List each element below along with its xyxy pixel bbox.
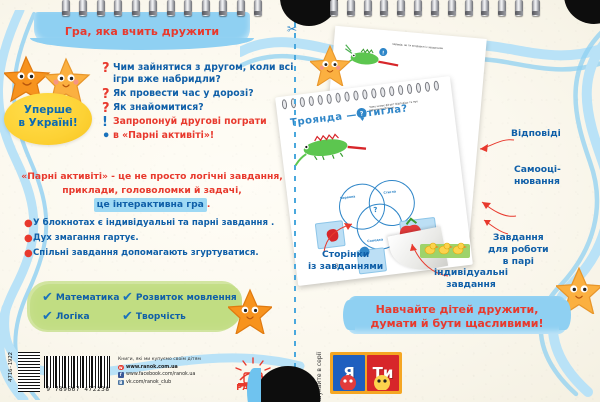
question-mark-icon: ? <box>102 62 113 75</box>
series-book-ty[interactable]: Ти <box>367 355 399 391</box>
skill-label: Логіка <box>56 312 90 322</box>
question-item: ? Як знайомитися? <box>102 102 302 115</box>
annotation-pair-tasks: Завдання для роботи в парі <box>488 232 549 268</box>
bullet-item: ● У блокнотах є індивідуальні та парні з… <box>24 218 294 229</box>
cta-line1: Навчайте дітей дружити, <box>376 303 539 316</box>
question-text: Запропонуй другові пограти <box>113 116 267 128</box>
isbn-digits: 9 789667 472238 <box>40 386 116 393</box>
question-text: в «Парні активіті»! <box>113 130 214 142</box>
paragraph-tail: . <box>207 199 211 210</box>
bullet-item: ● Дух змагання гартує. <box>24 233 294 244</box>
publisher-info: Книги, які ми купуємо своїм дітям w www.… <box>118 357 201 387</box>
skill-tag-creativity: ✔ Творчість <box>122 310 186 323</box>
venn-center-question-front: ? <box>373 206 378 214</box>
vk-icon: B <box>118 380 124 386</box>
question-mark-icon: ? <box>102 88 113 101</box>
bullet-item: ● Спільні завдання допомагають згуртуват… <box>24 248 294 259</box>
star-character-upper-right <box>310 44 350 86</box>
question-item: ? Як провести час у дорозі? <box>102 88 302 101</box>
skill-label: Розвиток мовлення <box>136 293 237 303</box>
individual-tasks-line2: завдання <box>446 279 496 290</box>
barcode-vertical <box>18 352 40 392</box>
task-pages-line1: Сторінки <box>322 249 369 260</box>
self-assessment-line1: Самооці- <box>514 164 561 175</box>
annotation-self-assessment: Самооці- нювання <box>514 164 561 188</box>
bullet-dot-icon: • <box>102 130 113 143</box>
skill-label: Творчість <box>136 312 186 322</box>
question-text: Як знайомитися? <box>113 102 204 114</box>
pair-tasks-line1: Завдання <box>493 232 544 243</box>
bullet-text: Спільні завдання допомагають згуртуватис… <box>33 248 259 259</box>
question-text: Чим зайнятися з другом, коли всі ігри вж… <box>113 62 302 87</box>
annotation-answers: Відповіді <box>511 128 561 140</box>
skill-tag-logic: ✔ Логіка <box>42 310 90 323</box>
question-list: ? Чим зайнятися з другом, коли всі ігри … <box>102 62 302 144</box>
vk-link[interactable]: vk.com/ranok_club <box>126 380 171 385</box>
skill-label: Математика <box>56 293 119 303</box>
series-books[interactable]: Я Ти <box>330 352 402 394</box>
spiral-binding-right <box>330 0 540 16</box>
check-icon: ✔ <box>42 291 53 304</box>
publisher-tagline: Книги, які ми купуємо своїм дітям <box>118 357 201 362</box>
feature-bullet-list: ● У блокнотах є індивідуальні та парні з… <box>24 218 294 263</box>
skill-tag-speech: ✔ Розвиток мовлення <box>122 291 237 304</box>
paragraph-line-2: приклади, головоломки й задачі, <box>62 185 242 196</box>
cta-text: Навчайте дітей дружити, думати й бути ща… <box>348 303 566 331</box>
bullet-dot-icon: ● <box>24 218 33 229</box>
publisher-vk-row[interactable]: B vk.com/ranok_club <box>118 380 201 386</box>
pair-tasks-line3: в парі <box>503 256 534 267</box>
product-back-cover: ✂ Гра, яка вчить дружити Уперше в У <box>0 0 600 402</box>
annotation-task-pages: Сторінки із завданнями <box>308 249 383 273</box>
isbn-barcode <box>44 356 110 388</box>
series-book-ya[interactable]: Я <box>333 355 365 391</box>
check-icon: ✔ <box>122 291 133 304</box>
paragraph-highlight: це інтерактивна гра <box>94 198 207 212</box>
scissors-icon: ✂ <box>287 22 297 36</box>
publisher-facebook-row[interactable]: f www.facebook.com/ranok.ua <box>118 372 201 378</box>
facebook-icon: f <box>118 372 124 378</box>
star-character-green-box <box>228 288 272 334</box>
hint-bubble-icon: ? <box>355 106 369 121</box>
bullet-dot-icon: ● <box>24 248 33 259</box>
badge-line2: в Україні! <box>18 117 77 129</box>
question-text: Як провести час у дорозі? <box>113 88 254 100</box>
badge-text: Уперше в Україні! <box>4 104 92 130</box>
title-text: Гра, яка вчить дружити <box>34 25 250 38</box>
cta-line2: думати й бути щасливими! <box>371 317 544 330</box>
perforation-line <box>294 0 296 402</box>
notebook-top-note: перевір, як ти впорався із завданням <box>392 43 478 54</box>
check-icon: ✔ <box>122 310 133 323</box>
question-item: ! Запропонуй другові пограти <box>102 116 302 129</box>
globe-icon: w <box>118 365 124 371</box>
bullet-text: Дух змагання гартує. <box>33 233 139 244</box>
question-item: • в «Парні активіті»! <box>102 130 302 143</box>
arrow-to-answers <box>470 136 516 160</box>
spiral-binding-left <box>62 0 262 16</box>
badge-line1: Уперше <box>24 104 72 116</box>
facebook-link[interactable]: www.facebook.com/ranok.ua <box>126 372 195 377</box>
task-pages-line2: із завданнями <box>308 261 383 272</box>
annotation-individual-tasks: індивідуальні завдання <box>434 267 508 291</box>
die-cut-top-right <box>564 0 600 24</box>
pair-tasks-line2: для роботи <box>488 244 549 255</box>
skill-tag-math: ✔ Математика <box>42 291 119 304</box>
individual-tasks-line1: індивідуальні <box>434 267 508 278</box>
paragraph-line-1: «Парні активіті» - це не просто логічні … <box>21 171 282 182</box>
website-link[interactable]: www.ranok.com.ua <box>126 365 178 370</box>
publisher-website-row[interactable]: w www.ranok.com.ua <box>118 365 201 371</box>
description-paragraph: «Парні активіті» - це не просто логічні … <box>18 170 286 212</box>
self-assessment-line2: нювання <box>514 176 560 187</box>
question-item: ? Чим зайнятися з другом, коли всі ігри … <box>102 62 302 87</box>
question-mark-icon: ? <box>102 102 113 115</box>
bullet-text: У блокнотах є індивідуальні та парні зав… <box>33 218 274 229</box>
bullet-dot-icon: ● <box>24 233 33 244</box>
barcode-side-code: 4716-1922 <box>8 352 14 382</box>
exclamation-mark-icon: ! <box>102 116 113 129</box>
check-icon: ✔ <box>42 310 53 323</box>
